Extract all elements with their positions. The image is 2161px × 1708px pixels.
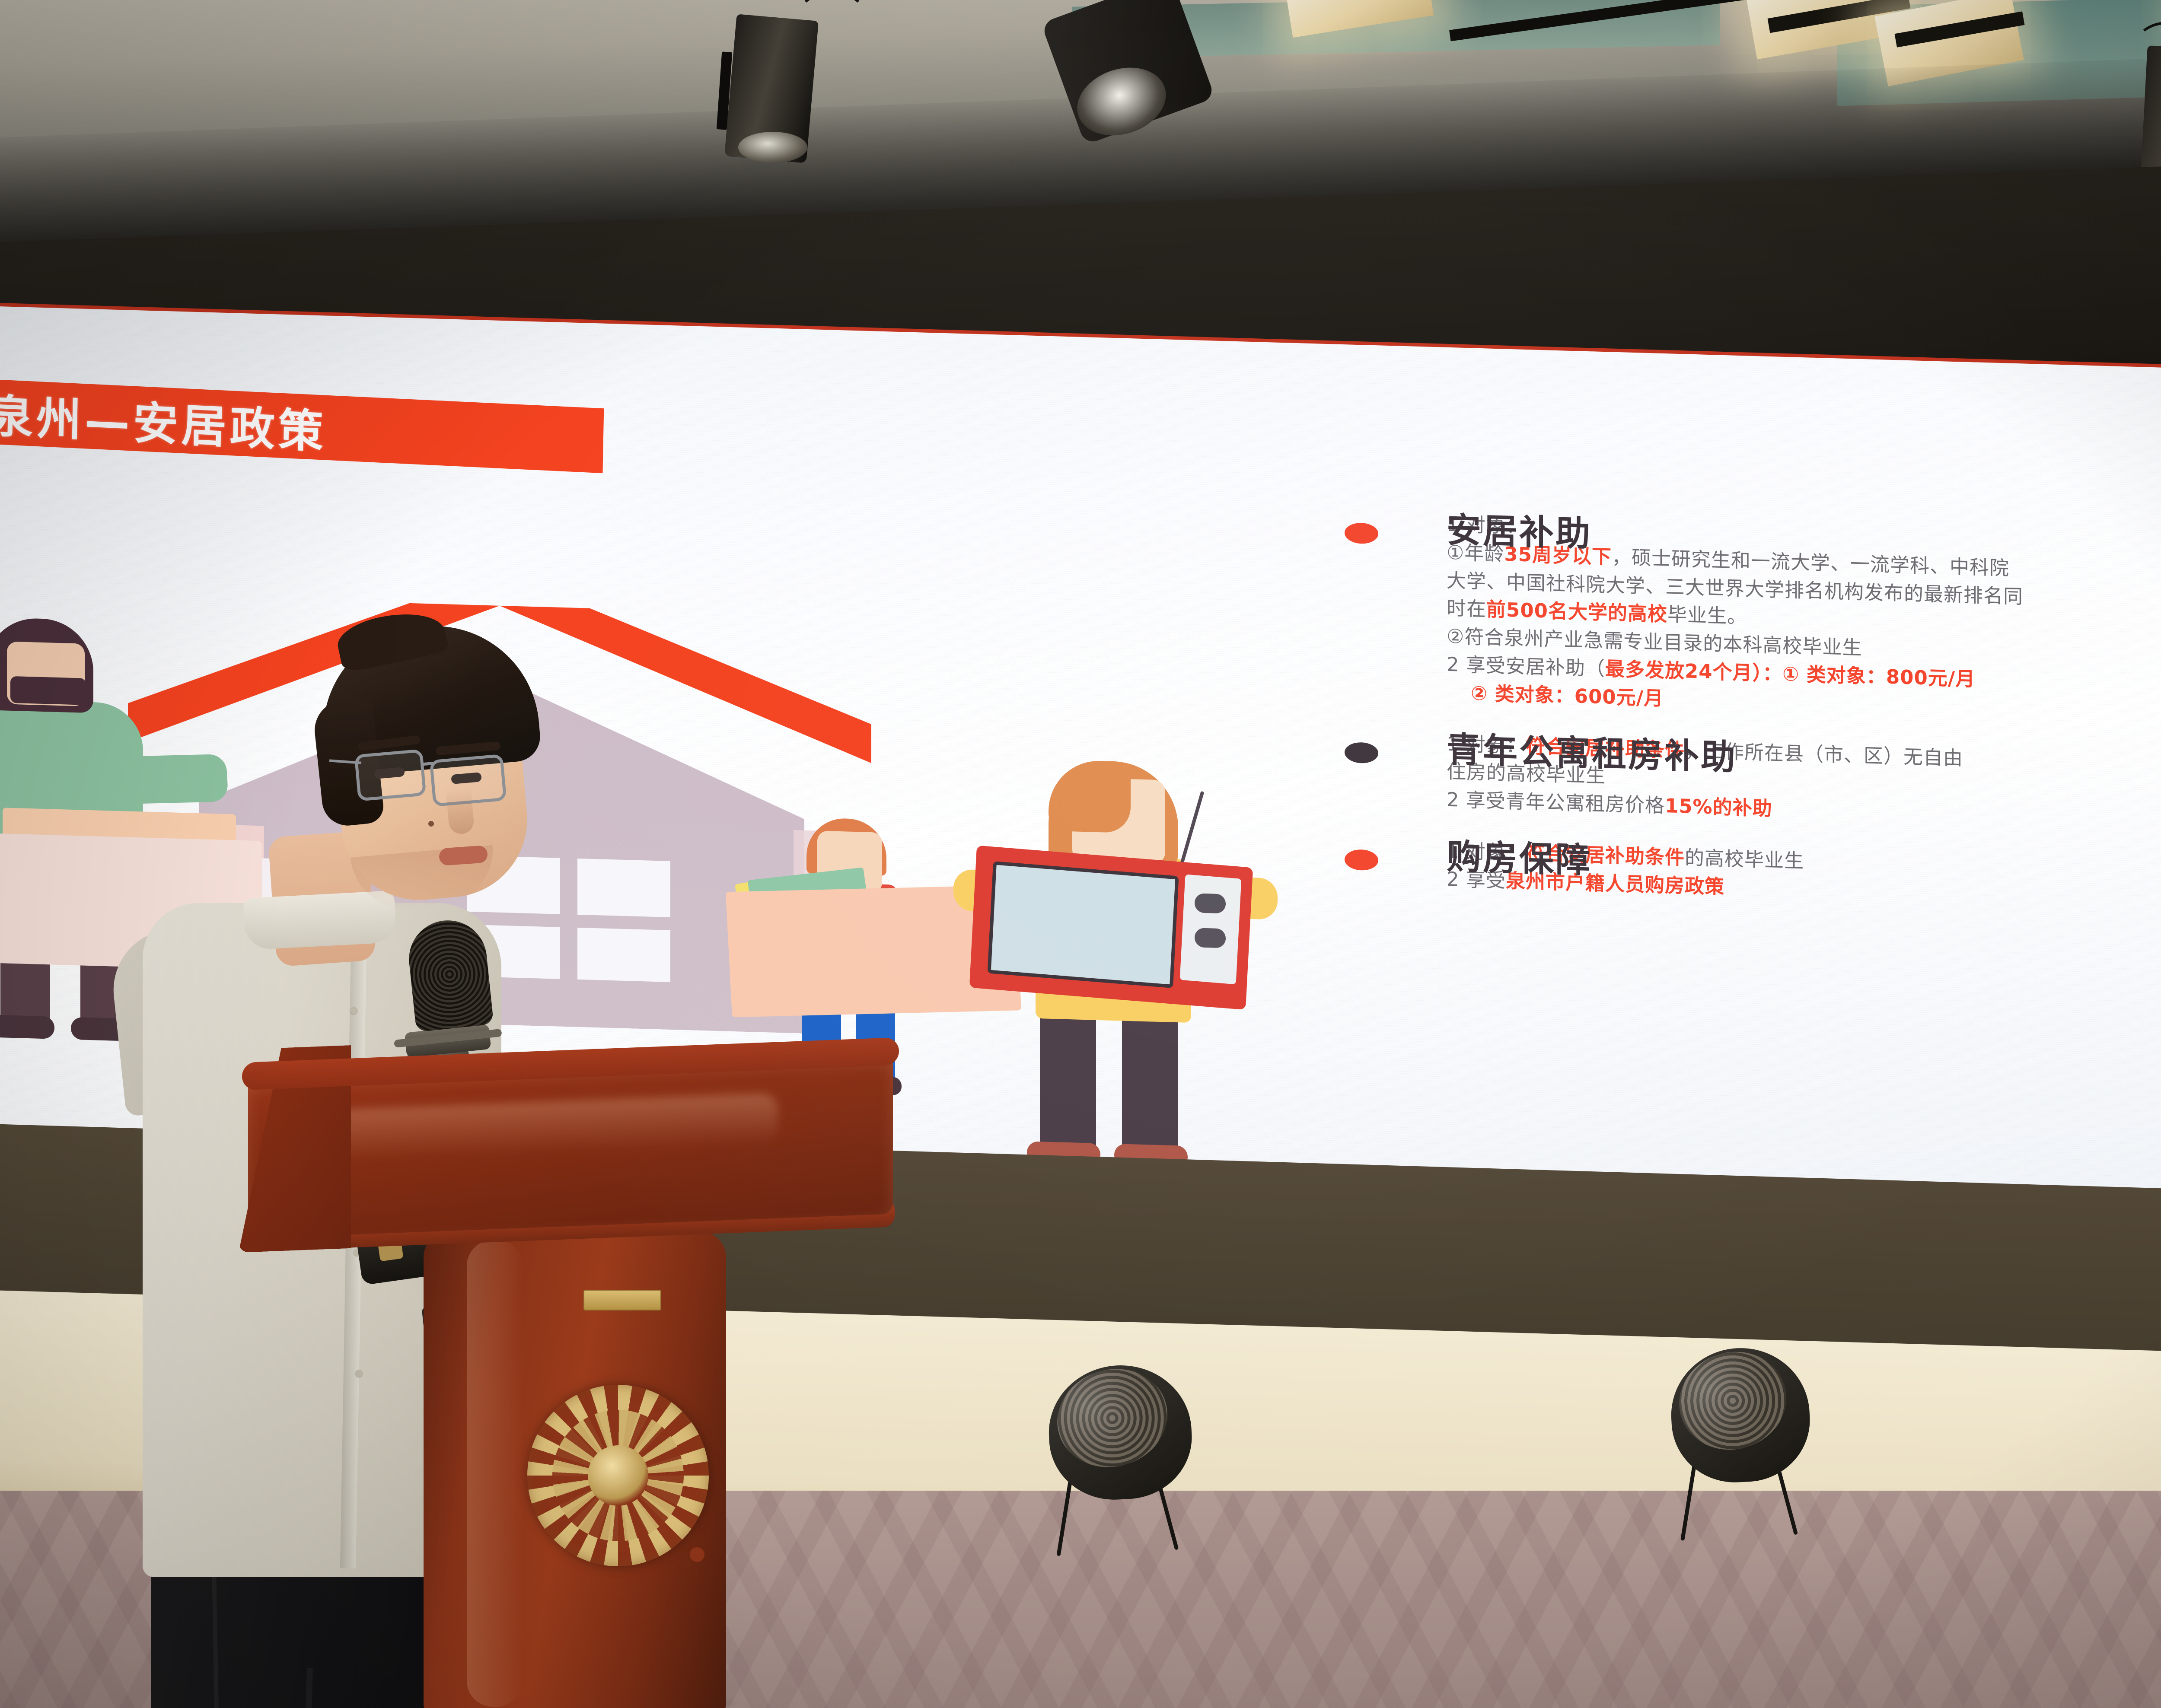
bullet-dot-icon [1345,522,1378,544]
par-can-leg [1056,1477,1073,1556]
par-can-light-1 [1045,1362,1198,1555]
shirt-button [350,1007,357,1014]
bullet-dot-icon [1345,849,1378,871]
par-can-leg [1680,1459,1697,1541]
tv-knob [1195,928,1226,948]
speaker-mouth [439,845,488,866]
glasses-lens-left [354,749,427,801]
slide-section-1: 安居补助 1 对象： ①年龄35周岁以下，硕士研究生和一流大学、一流学科、中科院… [1345,508,2161,736]
section-heading: 安居补助 [1447,511,1592,553]
speaker-collar [243,891,397,950]
section-heading: 购房保障 [1447,837,1592,880]
man-shoe-left [0,1015,54,1039]
tv-knob [1195,893,1226,913]
podium-column-highlight [467,1240,523,1707]
presentation-photo: 泉州—安居政策 [0,0,2161,1708]
page-title: 泉州—安居政策 [0,379,327,460]
slide-content: 安居补助 1 对象： ①年龄35周岁以下，硕士研究生和一流大学、一流学科、中科院… [1345,500,2161,946]
par-can-light-2 [1668,1345,1816,1537]
tv-screen [987,861,1179,988]
bullet-dot-icon [1345,742,1378,763]
podium [242,1050,899,1708]
speaker-mole [428,821,434,827]
woman-hair-front [1049,760,1131,833]
brass-name-plate [583,1290,661,1310]
slide-section-2: 青年公寓租房补助 1 对象：符合安居补助条件，工作所在县（市、区）无自由 住房的… [1345,727,2161,843]
man-beard [10,676,86,705]
slide-section-3: 购房保障 1 对象：符合安居补助条件的高校毕业生 2 享受泉州市户籍人员购房政策 [1345,834,2161,922]
section-heading: 青年公寓租房补助 [1447,730,1737,777]
medallion-center [690,1547,704,1562]
woman-leg-right [1122,1012,1178,1157]
lotus-rosette-medallion-icon [527,1385,709,1566]
slide-title-banner: 泉州—安居政策 [0,377,604,473]
woman-leg-left [1040,1010,1096,1154]
speaker-nose [446,788,475,835]
spotlight-lens [738,132,807,163]
